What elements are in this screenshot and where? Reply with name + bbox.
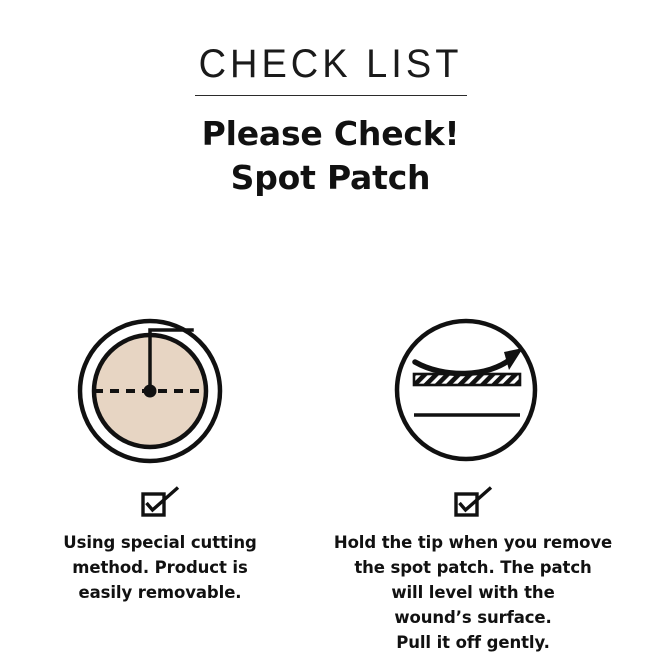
caption-line: Pull it off gently. [323, 630, 623, 655]
caption-line: method. Product is [10, 555, 310, 580]
check-list-infographic: CHECK LIST Please Check! Spot Patch [0, 0, 661, 661]
caption-line: easily removable. [10, 580, 310, 605]
caption-line: will level with the [323, 580, 623, 605]
peel-arrow-head [504, 348, 523, 370]
page-title: CHECK LIST [0, 40, 661, 89]
caption-line: Hold the tip when you remove [323, 530, 623, 555]
subtitle-line-2: Spot Patch [0, 156, 661, 200]
spot-patch-cut-circle-diagram [10, 300, 310, 480]
circle-outline [397, 321, 535, 459]
check-icon-wrapper-right [323, 484, 623, 524]
title-divider [195, 95, 467, 96]
caption-line: Using special cutting [10, 530, 310, 555]
subtitle-block: Please Check! Spot Patch [0, 112, 661, 200]
checked-checkbox-icon [137, 484, 183, 518]
caption-cutting-method: Using special cutting method. Product is… [10, 530, 310, 605]
caption-line: wound’s surface. [323, 605, 623, 630]
checked-checkbox-icon [450, 484, 496, 518]
caption-removal-method: Hold the tip when you remove the spot pa… [323, 530, 623, 655]
curved-peel-arrow [415, 358, 512, 374]
panel-removal-method: Hold the tip when you remove the spot pa… [323, 300, 623, 655]
caption-line: the spot patch. The patch [323, 555, 623, 580]
subtitle-line-1: Please Check! [0, 112, 661, 156]
patch-peel-layers-diagram [323, 300, 623, 480]
header: CHECK LIST [0, 40, 661, 96]
panel-cutting-method: Using special cutting method. Product is… [10, 300, 310, 605]
center-dot [144, 385, 157, 398]
check-icon-wrapper-left [10, 484, 310, 524]
